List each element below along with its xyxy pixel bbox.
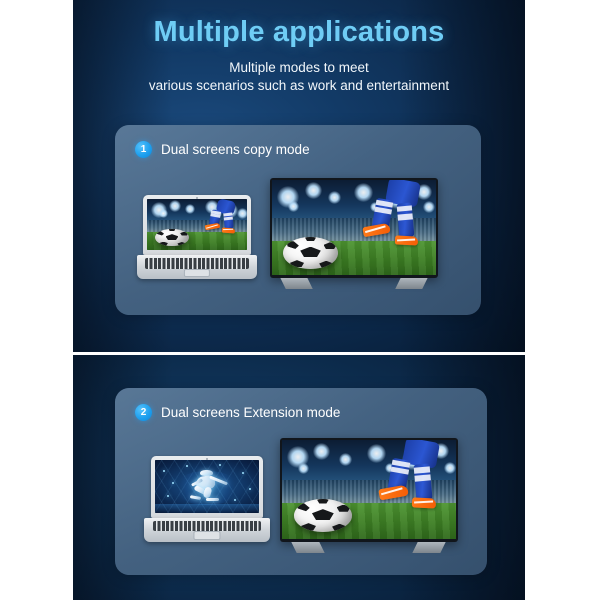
card-1-devices (115, 125, 481, 315)
player-legs (354, 180, 429, 258)
card-dual-screens-extension-mode[interactable]: 2 Dual screens Extension mode (115, 388, 487, 575)
player-legs (369, 440, 449, 521)
section-bottom: 2 Dual screens Extension mode (73, 355, 525, 600)
header: Multiple applications Multiple modes to … (73, 0, 525, 95)
soccer-scene-tv-2 (282, 440, 456, 539)
laptop-2-screen (155, 460, 259, 513)
soccer-ball (294, 499, 351, 532)
tv-1-screen (272, 180, 436, 275)
tv-2-frame (280, 438, 458, 542)
soccer-ball (155, 229, 189, 246)
laptop-2-lid (151, 456, 263, 518)
player-legs (199, 200, 243, 240)
laptop-2-base (144, 518, 269, 542)
laptop-1-trackpad (184, 269, 210, 277)
section-top: Multiple applications Multiple modes to … (73, 0, 525, 352)
tv-device-2 (280, 438, 458, 556)
robot-figure (184, 470, 232, 508)
floor-glow (155, 504, 259, 512)
tv-2-screen (282, 440, 456, 539)
soccer-ball (283, 237, 337, 268)
tv-1-stand (270, 278, 438, 292)
subtitle-line-1: Multiple modes to meet (229, 60, 369, 75)
laptop-device-1 (143, 195, 251, 279)
laptop-1-base (137, 255, 258, 279)
tv-1-frame (270, 178, 438, 278)
subtitle-line-2: various scenarios such as work and enter… (149, 78, 449, 93)
card-dual-screens-copy-mode[interactable]: 1 Dual screens copy mode (115, 125, 481, 315)
laptop-1-lid (143, 195, 251, 255)
laptop-2-trackpad (193, 531, 220, 539)
laptop-2-keyboard (153, 521, 261, 532)
tv-2-stand (280, 542, 458, 556)
page-subtitle: Multiple modes to meet various scenarios… (73, 49, 525, 95)
soccer-scene-tv-1 (272, 180, 436, 275)
laptop-device-2 (151, 456, 263, 542)
robot-scene-laptop-2 (155, 460, 259, 513)
page-title: Multiple applications (73, 0, 525, 49)
card-2-devices (115, 388, 487, 575)
promo-page: Multiple applications Multiple modes to … (0, 0, 600, 600)
laptop-1-screen (147, 199, 247, 250)
laptop-1-keyboard (145, 258, 249, 268)
tv-device-1 (270, 178, 438, 292)
soccer-scene-laptop-1 (147, 199, 247, 250)
